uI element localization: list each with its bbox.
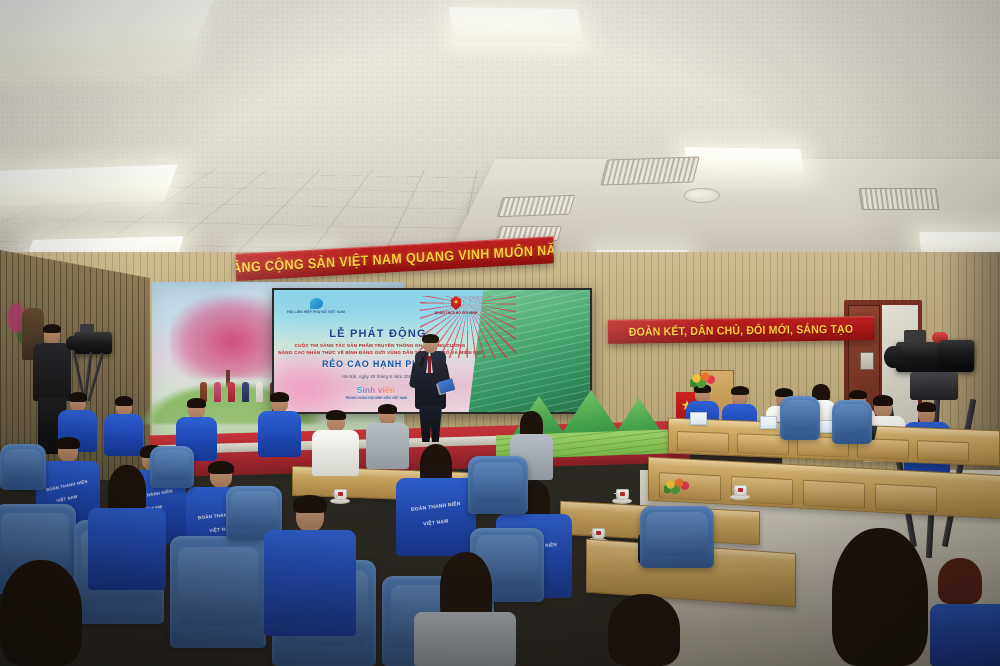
- teacup: [616, 489, 629, 500]
- person-torso: ĐOÀN THANH NIÊN VIỆT NAM: [396, 478, 476, 556]
- logo-left-caption: HỘI LIÊN HIỆP PHỤ NỮ VIỆT NAM: [287, 310, 345, 314]
- tripod-head: [910, 372, 958, 400]
- person-hair: [832, 528, 928, 666]
- auditorium-seat[interactable]: [0, 444, 46, 490]
- footer-logo-word: Sinh viên: [357, 386, 395, 395]
- camera-body-rear: [940, 340, 974, 366]
- person-hair: [378, 404, 397, 414]
- auditorium-seat[interactable]: [780, 396, 820, 440]
- ceiling-light-panel: [449, 7, 583, 43]
- mural-figure: [214, 382, 221, 402]
- audience-member-foreground: [0, 560, 96, 666]
- auditorium-seat[interactable]: [170, 536, 266, 648]
- audience-member-back-view: ĐOÀN THANH NIÊN VIỆT NAM: [396, 448, 478, 556]
- ceiling-light-panel: [919, 232, 1000, 252]
- stage-speaker: [410, 336, 452, 442]
- youth-union-icon: [450, 296, 462, 310]
- speaker-tie: [428, 356, 431, 373]
- person-hair: [293, 495, 327, 513]
- desk-panel: [875, 483, 937, 512]
- door-sign: [860, 352, 874, 370]
- audience-member-foreground: [930, 560, 1000, 666]
- womens-union-icon: [310, 298, 323, 309]
- camera-viewfinder: [80, 324, 94, 333]
- logo-womens-union: HỘI LIÊN HIỆP PHỤ NỮ VIỆT NAM: [286, 298, 346, 324]
- teacup: [734, 485, 747, 496]
- air-vent: [600, 156, 699, 185]
- person-torso: [930, 604, 1000, 666]
- person-hair: [187, 398, 206, 408]
- person-torso: [88, 508, 166, 590]
- audience-member-foreground: [84, 470, 170, 590]
- delegate-name-card: [760, 416, 777, 429]
- ceiling-speaker-dome: [684, 188, 720, 203]
- speaker-hair: [422, 334, 439, 343]
- flower-arrangement: [664, 478, 690, 494]
- auditorium-seat[interactable]: [832, 400, 872, 444]
- shirt-text-line2: VIỆT NAM: [404, 516, 468, 531]
- desk-panel: [917, 440, 969, 462]
- person-hair: [0, 560, 82, 666]
- desk-panel: [803, 480, 865, 509]
- mural-figure: [242, 382, 249, 402]
- person-hair: [270, 392, 289, 402]
- screen-subtitle-line1: CUỘC THI SÁNG TÁC SẢN PHẨM TRUYỀN THÔNG …: [272, 343, 498, 348]
- audience-member: [258, 394, 302, 454]
- camera-lens-icon: [66, 336, 78, 350]
- camera-viewfinder: [904, 330, 926, 343]
- person-hair: [608, 594, 680, 666]
- camera-lens-icon: [884, 346, 902, 368]
- logo-youth-union: ĐOÀN TNCS HỒ CHÍ MINH: [418, 296, 494, 324]
- person-hair: [917, 402, 936, 412]
- mural-figure: [228, 382, 235, 402]
- audience-member-foreground: [410, 560, 520, 666]
- delegate-name-card: [690, 412, 707, 425]
- flower-arrangement: [690, 372, 716, 388]
- audience-member: [104, 398, 144, 454]
- person-torso: [414, 612, 516, 666]
- person-torso: [264, 530, 356, 636]
- person-hair: [208, 461, 234, 474]
- person-hair: [731, 386, 749, 395]
- person-hair: [326, 410, 346, 420]
- auditorium-seat[interactable]: [640, 506, 714, 568]
- ceiling-light-panel: [684, 147, 803, 174]
- teacup: [592, 528, 605, 539]
- person-hair: [873, 395, 893, 406]
- person-hair: [938, 558, 982, 604]
- person-torso: [33, 343, 71, 401]
- person-torso: [312, 430, 359, 476]
- air-vent: [497, 195, 576, 218]
- audience-member-foreground: [262, 500, 358, 636]
- audience-member-foreground: [826, 528, 932, 666]
- ceiling: [0, 0, 1000, 265]
- person-hair: [56, 437, 80, 449]
- auditorium-seat[interactable]: [468, 456, 528, 514]
- screen-subtitle-line2: NÂNG CAO NHẬN THỨC VỀ BÌNH ĐẲNG GIỚI VÙN…: [272, 350, 498, 355]
- person-hair: [69, 392, 87, 402]
- person-torso: [258, 411, 301, 457]
- footer-logo-tagline: TRUNG ƯƠNG HỘI SINH VIÊN VIỆT NAM: [345, 396, 407, 400]
- speaker-legs: [419, 406, 442, 442]
- audience-member: [312, 412, 360, 474]
- shirt-text-line1: ĐOÀN THANH NIÊN: [404, 500, 468, 515]
- person-hair: [43, 324, 61, 333]
- banner-side-text: ĐOÀN KẾT, DÂN CHỦ, ĐỔI MỚI, SÁNG TẠO: [629, 322, 854, 338]
- person-hair: [115, 396, 133, 406]
- camera-left: [74, 332, 112, 354]
- teacup: [334, 489, 347, 500]
- air-vent: [858, 188, 939, 210]
- conference-hall-photo: ĐẢNG CỘNG SẢN VIỆT NAM QUANG VINH MUÔN N…: [0, 0, 1000, 666]
- logo-right-caption: ĐOÀN TNCS HỒ CHÍ MINH: [435, 311, 478, 315]
- banner-side: ĐOÀN KẾT, DÂN CHỦ, ĐỔI MỚI, SÁNG TẠO: [608, 316, 874, 344]
- audience-member-foreground: [596, 594, 692, 666]
- desk-panel: [677, 431, 729, 453]
